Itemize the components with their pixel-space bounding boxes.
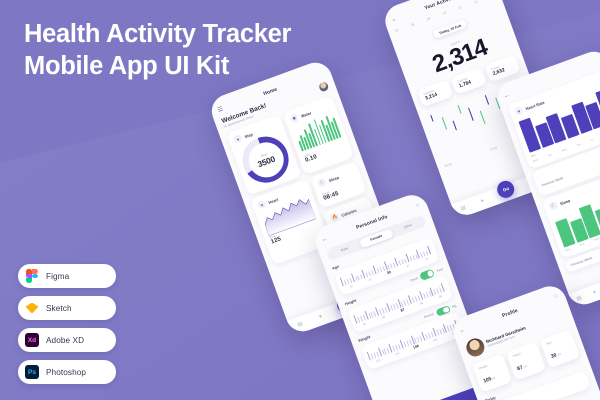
tab-activity-icon[interactable]: ✦	[318, 314, 324, 321]
link-label: Previous Week	[541, 176, 564, 188]
ruler-tick	[404, 300, 407, 305]
ruler-label: 106	[412, 344, 419, 350]
ruler-label: 104	[394, 351, 400, 356]
time-label: 15:00	[489, 145, 497, 151]
timeline-stroke	[457, 105, 461, 114]
height-label: Height	[344, 298, 356, 306]
ruler-tick	[415, 296, 418, 301]
ruler-tick	[379, 267, 382, 272]
ruler-tick	[360, 316, 363, 321]
ruler-tick	[393, 262, 396, 267]
bell-icon[interactable]: ◌	[415, 202, 420, 209]
ruler-tick	[417, 295, 420, 300]
ruler-label: 88	[419, 301, 423, 306]
ruler-tick	[426, 292, 429, 297]
ruler-tick	[431, 248, 434, 253]
photoshop-icon: Ps	[25, 365, 39, 379]
ruler-tick	[447, 326, 450, 331]
date-day[interactable]: 07	[395, 28, 400, 33]
ruler-tick	[340, 278, 344, 287]
ruler-tick	[428, 333, 431, 338]
ruler-tick	[398, 344, 401, 349]
ruler-tick	[409, 256, 412, 261]
ruler-tick	[406, 299, 409, 304]
time-label: 09:00	[444, 162, 452, 168]
back-arrow-icon[interactable]: ←	[503, 92, 511, 100]
gender-option-male[interactable]: Male	[327, 239, 362, 259]
ruler-tick	[431, 332, 434, 337]
page-title: Profile	[501, 307, 518, 318]
tab-activity-icon[interactable]: ✦	[592, 289, 598, 296]
card-label: Step	[244, 131, 254, 139]
ruler-tick	[382, 266, 385, 271]
ruler-label: 28	[349, 284, 353, 289]
ruler-tick	[371, 270, 374, 275]
weight-label: Weight	[358, 335, 371, 343]
ruler-tick	[390, 305, 393, 310]
ruler-label: 89	[438, 294, 442, 299]
ruler-tick	[368, 313, 371, 318]
date-day[interactable]: 12	[473, 0, 478, 4]
ruler-tick	[385, 307, 388, 312]
ruler-label: 85	[362, 321, 366, 326]
ruler-tick	[412, 297, 415, 302]
ruler-tick	[417, 337, 420, 342]
ruler-tick	[395, 303, 398, 308]
tab-grid-icon[interactable]: ▤	[460, 205, 467, 212]
ruler-tick	[403, 342, 406, 347]
ruler-tick	[393, 346, 396, 351]
steps-value: 3500	[256, 154, 276, 169]
shoe-icon: ●	[233, 134, 243, 144]
ruler-tick	[428, 291, 431, 296]
ruler-tick	[425, 334, 428, 339]
card-title: Sleep	[559, 197, 571, 205]
date-day[interactable]: 10	[442, 11, 447, 16]
ruler-label: 29	[368, 277, 372, 282]
tab-grid-icon[interactable]: ▤	[297, 321, 304, 328]
moon-icon: ☾	[548, 201, 558, 211]
date-selected-pill[interactable]: Today, 10 Feb	[433, 19, 467, 39]
ruler-tick	[436, 330, 439, 335]
ruler-tick	[423, 293, 426, 298]
ruler-tick	[398, 260, 401, 265]
timeline-stroke	[484, 95, 488, 104]
ruler-label: 108	[432, 337, 438, 342]
ruler-tick	[363, 315, 366, 320]
sketch-icon	[25, 301, 39, 315]
heart-icon: ♥	[514, 106, 524, 116]
stat-unit: kg	[491, 376, 496, 381]
drop-icon: ◆	[289, 113, 299, 123]
ruler-tick	[390, 263, 393, 268]
ruler-tick	[415, 254, 418, 259]
hamburger-icon[interactable]: ☰	[217, 106, 224, 113]
height-unit-off: Centi	[410, 276, 419, 282]
title-line-1: Health Activity Tracker	[24, 20, 291, 48]
weekday-label: Tue	[580, 243, 585, 247]
bell-icon[interactable]: ◌	[553, 293, 558, 300]
weekday-label: Mon	[565, 248, 571, 253]
tab-activity-icon[interactable]: ✦	[479, 198, 485, 205]
ruler-tick	[420, 336, 423, 341]
ruler-tick	[434, 289, 437, 294]
ruler-tick	[377, 268, 380, 273]
back-arrow-icon[interactable]: ←	[321, 235, 329, 243]
ruler-tick	[420, 252, 423, 257]
ruler-tick	[368, 271, 371, 276]
avatar[interactable]	[318, 81, 330, 93]
page-title: Home	[262, 86, 277, 97]
weekday-label: Tue	[547, 153, 552, 157]
ruler-tick	[439, 287, 442, 292]
profile-stat-chip: Weight105 kg	[472, 354, 512, 393]
badge-label: Adobe XD	[46, 336, 84, 345]
ruler-tick	[379, 309, 382, 314]
go-fab-button[interactable]: Go	[495, 178, 517, 200]
height-unit-on: Feet	[436, 267, 444, 273]
ruler-tick	[395, 345, 398, 350]
poster-canvas: Health Activity Tracker Mobile App UI Ki…	[0, 0, 600, 400]
ruler-tick	[357, 275, 360, 280]
ruler-tick	[382, 350, 385, 355]
stat-chip: Distance3,214	[417, 79, 453, 107]
ruler-tick	[374, 311, 377, 316]
badge-label: Photoshop	[46, 368, 86, 377]
ruler-tick	[344, 280, 347, 285]
date-day[interactable]: 11	[458, 5, 462, 10]
timeline-stroke	[480, 110, 486, 124]
ruler-tick	[414, 338, 417, 343]
ruler-tick	[384, 349, 387, 354]
ruler-tick	[349, 278, 352, 283]
profile-photo[interactable]	[464, 336, 487, 359]
ruler-tick	[442, 328, 445, 333]
badge-photoshop[interactable]: Ps Photoshop	[18, 360, 116, 384]
link-label: Previous Week	[570, 256, 593, 268]
ruler-tick	[371, 354, 374, 359]
gender-option-other[interactable]: Other	[391, 216, 426, 236]
timeline-stroke	[453, 120, 458, 130]
badge-adobe-xd[interactable]: Xd Adobe XD	[18, 328, 116, 352]
ruler-tick	[409, 340, 412, 345]
back-arrow-icon[interactable]: ←	[390, 15, 398, 23]
card-label: Sleep	[328, 174, 340, 182]
timeline-stroke	[469, 108, 475, 121]
weight-unit-on: Kg	[452, 304, 457, 309]
adobe-xd-icon: Xd	[25, 333, 39, 347]
ruler-tick	[346, 279, 349, 284]
ruler-tick	[406, 341, 409, 346]
card-label: Water	[300, 110, 312, 118]
moon-icon: ☾	[317, 178, 327, 188]
back-arrow-icon[interactable]: ←	[459, 326, 467, 334]
ruler-tick	[412, 255, 415, 260]
ruler-label: 30	[386, 270, 391, 275]
ruler-tick	[353, 315, 357, 324]
ruler-tick	[367, 352, 371, 361]
badge-label: Sketch	[46, 304, 72, 313]
ruler-tick	[439, 329, 442, 334]
weekday-label: Mon	[533, 158, 539, 163]
gender-option-female[interactable]: Female	[359, 228, 394, 248]
card-title: Heart Rate	[525, 99, 546, 111]
tab-grid-icon[interactable]: ▤	[576, 295, 583, 302]
ruler-label: 32	[425, 257, 429, 262]
date-day[interactable]: 09	[426, 16, 431, 21]
ruler-label: 87	[400, 307, 405, 312]
ruler-tick	[393, 304, 396, 309]
timeline-stroke	[442, 117, 447, 129]
weekday-label: Wed	[561, 148, 567, 153]
ruler-tick	[373, 353, 376, 358]
ruler-label: 86	[381, 314, 385, 319]
ruler-tick	[436, 288, 439, 293]
ruler-tick	[404, 258, 407, 263]
badge-figma[interactable]: Figma	[18, 264, 116, 288]
weekday-label: Fri	[590, 138, 594, 142]
ruler-tick	[382, 308, 385, 313]
weight-unit-off: Pound	[424, 312, 435, 319]
ruler-tick	[366, 272, 369, 277]
ruler-tick	[423, 251, 426, 256]
format-badge-list: Figma Sketch Xd Adobe XD Ps Photoshop	[18, 264, 116, 384]
ruler-tick	[357, 317, 360, 322]
profile-stat-chip: Height87 cm	[506, 341, 546, 380]
stat-unit: yrs	[556, 352, 562, 357]
ruler-tick	[426, 250, 429, 255]
ruler-tick	[371, 312, 374, 317]
weekday-label: Thu	[576, 143, 581, 147]
weekday-label: Wed	[594, 237, 600, 242]
date-day[interactable]: 08	[410, 22, 415, 27]
ruler-tick	[387, 348, 390, 353]
ruler-tick	[401, 259, 404, 264]
timeline-stroke	[430, 115, 433, 121]
ruler-tick	[355, 276, 358, 281]
ruler-tick	[445, 285, 448, 290]
stat-unit: cm	[522, 364, 528, 369]
ruler-label: 103	[375, 358, 381, 363]
ruler-tick	[376, 352, 379, 357]
profile-stat-chip: Age30 yrs	[540, 329, 580, 368]
ruler-tick	[360, 274, 363, 279]
badge-label: Figma	[46, 272, 69, 281]
ruler-label: 31	[406, 264, 410, 269]
badge-sketch[interactable]: Sketch	[18, 296, 116, 320]
ruler-tick	[387, 264, 390, 269]
ruler-tick	[401, 301, 404, 306]
figma-icon	[25, 269, 39, 283]
